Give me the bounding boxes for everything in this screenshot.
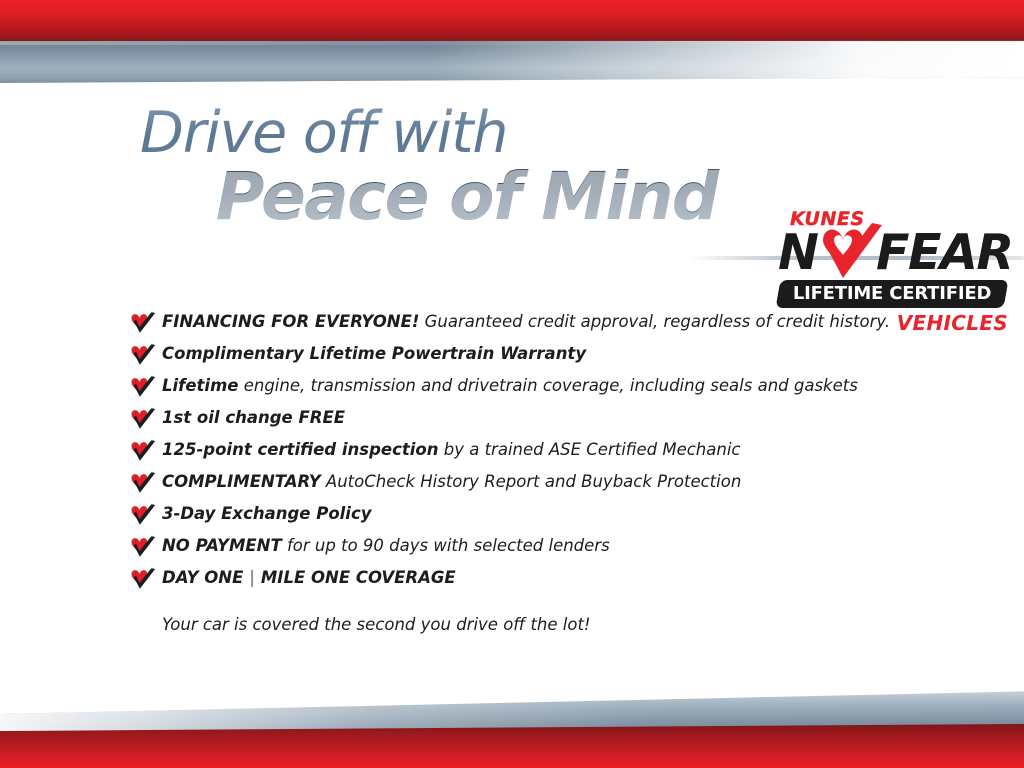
logo-certification-bar: LIFETIME CERTIFIED <box>776 280 1009 308</box>
list-item-bold: FINANCING FOR EVERYONE! <box>162 312 419 331</box>
list-item-normal: AutoCheck History Report and Buyback Pro… <box>321 472 742 491</box>
page-title: Drive off with Peace of Mind <box>140 102 740 234</box>
list-item-text: 125-point certified inspection by a trai… <box>162 438 740 460</box>
list-item-normal: by a trained ASE Certified Mechanic <box>439 440 741 459</box>
list-item-text: COMPLIMENTARY AutoCheck History Report a… <box>162 470 741 492</box>
list-item: COMPLIMENTARY AutoCheck History Report a… <box>130 470 950 502</box>
list-item-text: 1st oil change FREE <box>162 406 345 428</box>
list-item: Lifetime engine, transmission and drivet… <box>130 374 950 406</box>
list-item-bold: Lifetime <box>162 376 238 395</box>
list-item: DAY ONE | MILE ONE COVERAGE <box>130 566 950 616</box>
benefits-list: FINANCING FOR EVERYONE! Guaranteed credi… <box>130 310 950 636</box>
list-item-bold: DAY ONE <box>162 568 243 587</box>
list-item-text: DAY ONE | MILE ONE COVERAGE <box>162 566 456 588</box>
heart-check-icon <box>130 408 156 430</box>
list-item-separator: | <box>243 568 261 587</box>
heart-check-icon <box>130 536 156 558</box>
headline-line-2: Peace of Mind <box>216 160 740 234</box>
heart-check-icon <box>130 344 156 366</box>
list-item-normal: for up to 90 days with selected lenders <box>282 536 610 555</box>
list-item-text: Lifetime engine, transmission and drivet… <box>162 374 858 396</box>
list-item-normal: Guaranteed credit approval, regardless o… <box>419 312 890 331</box>
list-item-bold: 1st oil change FREE <box>162 408 345 427</box>
list-item-text: 3-Day Exchange Policy <box>162 502 372 524</box>
top-red-stripe <box>0 0 1024 41</box>
bottom-red-stripe <box>0 724 1024 768</box>
list-item: FINANCING FOR EVERYONE! Guaranteed credi… <box>130 310 950 342</box>
list-item-text: NO PAYMENT for up to 90 days with select… <box>162 534 610 556</box>
headline-line-1: Drive off with <box>140 102 740 164</box>
list-item: 3-Day Exchange Policy <box>130 502 950 534</box>
heart-check-icon <box>130 440 156 462</box>
list-item-bold: 125-point certified inspection <box>162 440 439 459</box>
list-item: 1st oil change FREE <box>130 406 950 438</box>
header: Drive off with Peace of Mind KUNES N FEA… <box>0 96 1024 264</box>
list-item-bold: COMPLIMENTARY <box>162 472 321 491</box>
list-item-bold-2: MILE ONE COVERAGE <box>261 568 456 587</box>
promo-page: Drive off with Peace of Mind KUNES N FEA… <box>0 0 1024 768</box>
heart-check-icon <box>130 376 156 398</box>
list-item-normal: engine, transmission and drivetrain cove… <box>238 376 857 395</box>
heart-check-icon <box>130 472 156 494</box>
list-item-text: Complimentary Lifetime Powertrain Warran… <box>162 342 586 364</box>
bottom-gray-stripe <box>0 688 1024 730</box>
list-item: 125-point certified inspection by a trai… <box>130 438 950 470</box>
list-item: Complimentary Lifetime Powertrain Warran… <box>130 342 950 374</box>
logo-word-fear: FEAR <box>876 228 1013 277</box>
heart-check-icon <box>130 504 156 526</box>
list-item-text: FINANCING FOR EVERYONE! Guaranteed credi… <box>162 310 890 332</box>
list-item-bold: Complimentary Lifetime Powertrain Warran… <box>162 344 586 363</box>
list-item-bold: 3-Day Exchange Policy <box>162 504 372 523</box>
heart-check-icon <box>130 312 156 334</box>
logo-certification-text: LIFETIME CERTIFIED <box>778 280 1006 308</box>
list-item-subtext: Your car is covered the second you drive… <box>162 614 950 636</box>
heart-check-mark-icon <box>812 222 886 286</box>
heart-check-icon <box>130 568 156 590</box>
bottom-banner <box>0 688 1024 768</box>
list-item-bold: NO PAYMENT <box>162 536 282 555</box>
top-gray-stripe <box>0 41 1024 83</box>
top-gray-highlight <box>0 41 1024 45</box>
list-item: NO PAYMENT for up to 90 days with select… <box>130 534 950 566</box>
top-banner <box>0 0 1024 88</box>
logo-wordmark: N FEAR <box>776 226 1014 282</box>
